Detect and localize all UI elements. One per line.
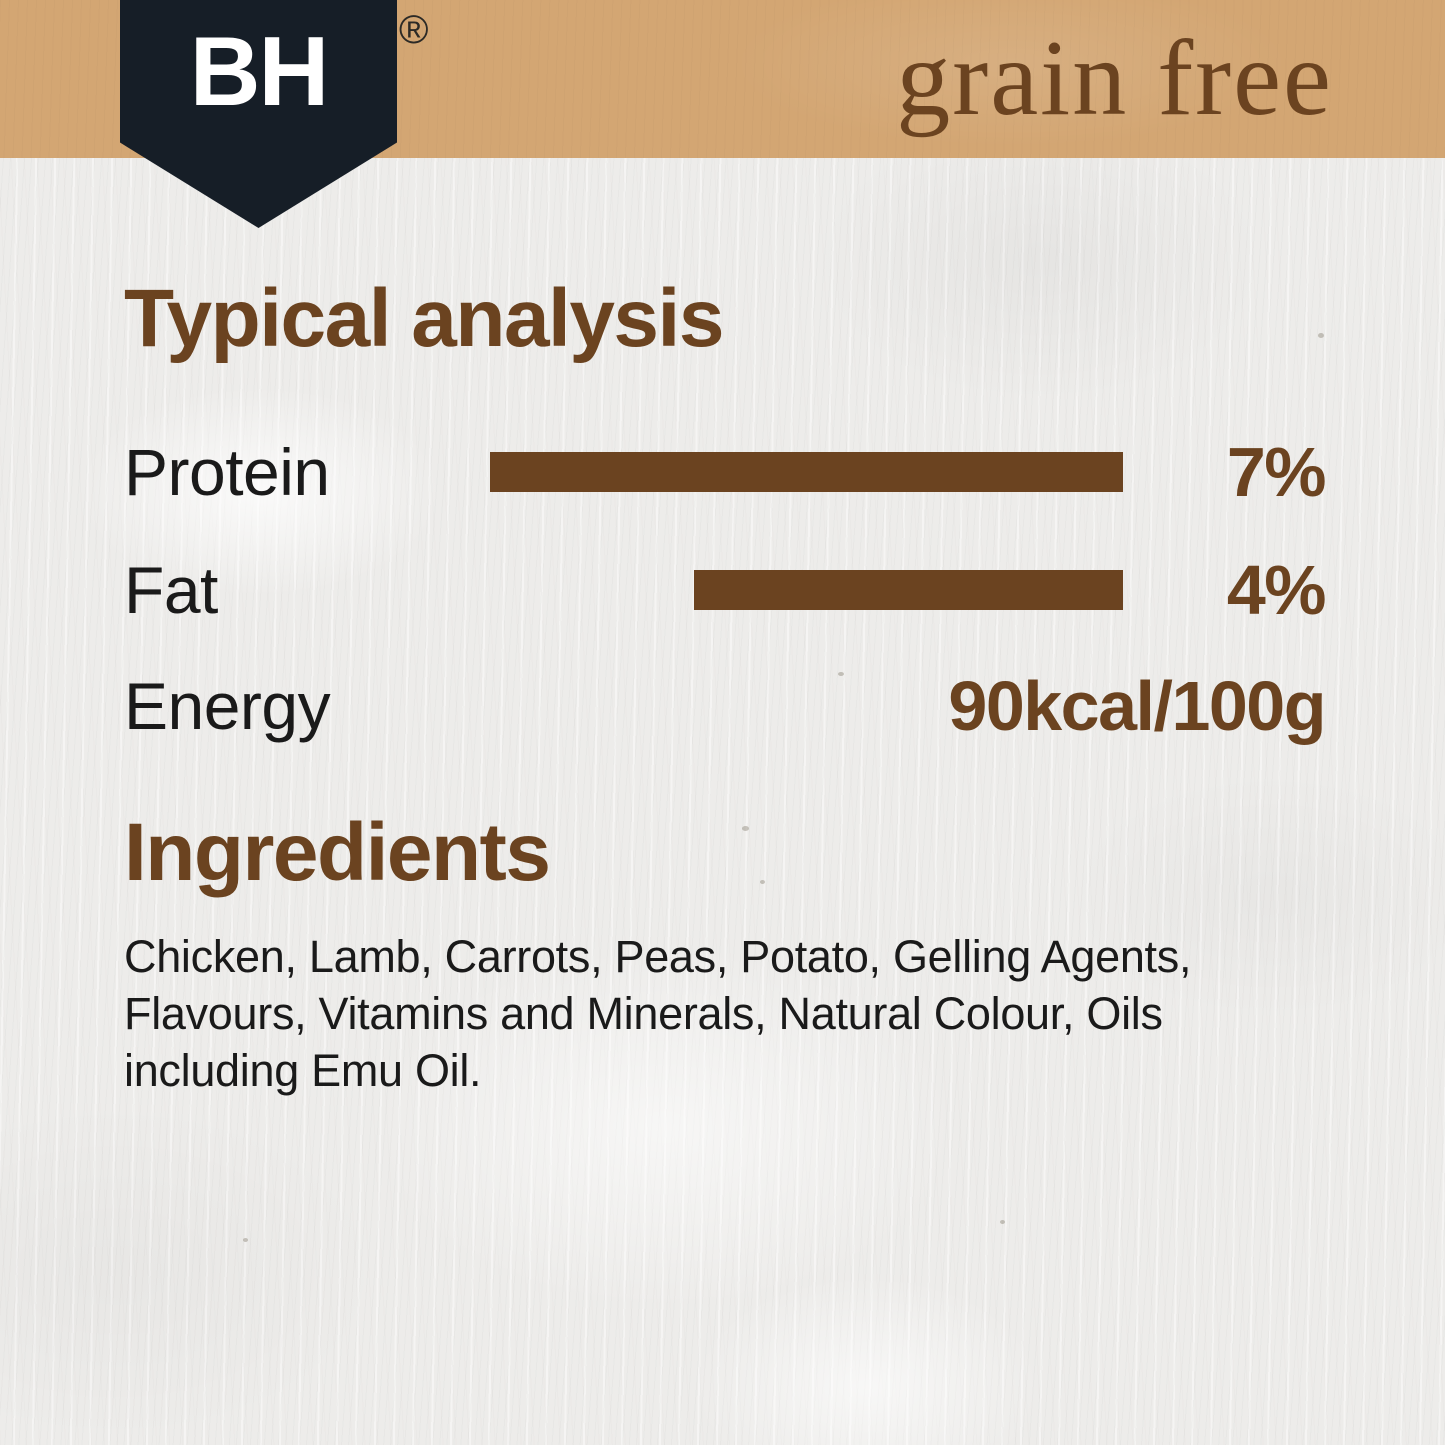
ingredients-heading: Ingredients [124,812,549,894]
texture-speck [760,880,765,884]
ingredients-text: Chicken, Lamb, Carrots, Peas, Potato, Ge… [124,928,1339,1099]
texture-speck [1318,333,1324,338]
analysis-row-value: 4% [1227,546,1325,634]
brand-shield-badge: BH [120,0,397,228]
analysis-row-value: 7% [1227,428,1325,516]
analysis-row-bar [694,570,1123,610]
analysis-row-value: 90kcal/100g [948,662,1325,750]
brand-logo-text: BH [120,22,397,120]
analysis-row-fat: Fat 4% [124,546,1325,634]
texture-speck [742,826,749,831]
analysis-row-bar [490,452,1123,492]
analysis-row-label: Fat [124,546,218,634]
analysis-row-label: Energy [124,662,330,750]
analysis-row-label: Protein [124,428,330,516]
typical-analysis-heading: Typical analysis [124,278,723,360]
product-label-panel: BH ® grain free Typical analysis Protein… [0,0,1445,1445]
grain-free-tagline: grain free [896,14,1333,144]
texture-speck [1000,1220,1005,1224]
analysis-row-protein: Protein 7% [124,428,1325,516]
registered-trademark-icon: ® [399,10,428,50]
analysis-row-energy: Energy 90kcal/100g [124,662,1325,750]
texture-speck [243,1238,248,1242]
